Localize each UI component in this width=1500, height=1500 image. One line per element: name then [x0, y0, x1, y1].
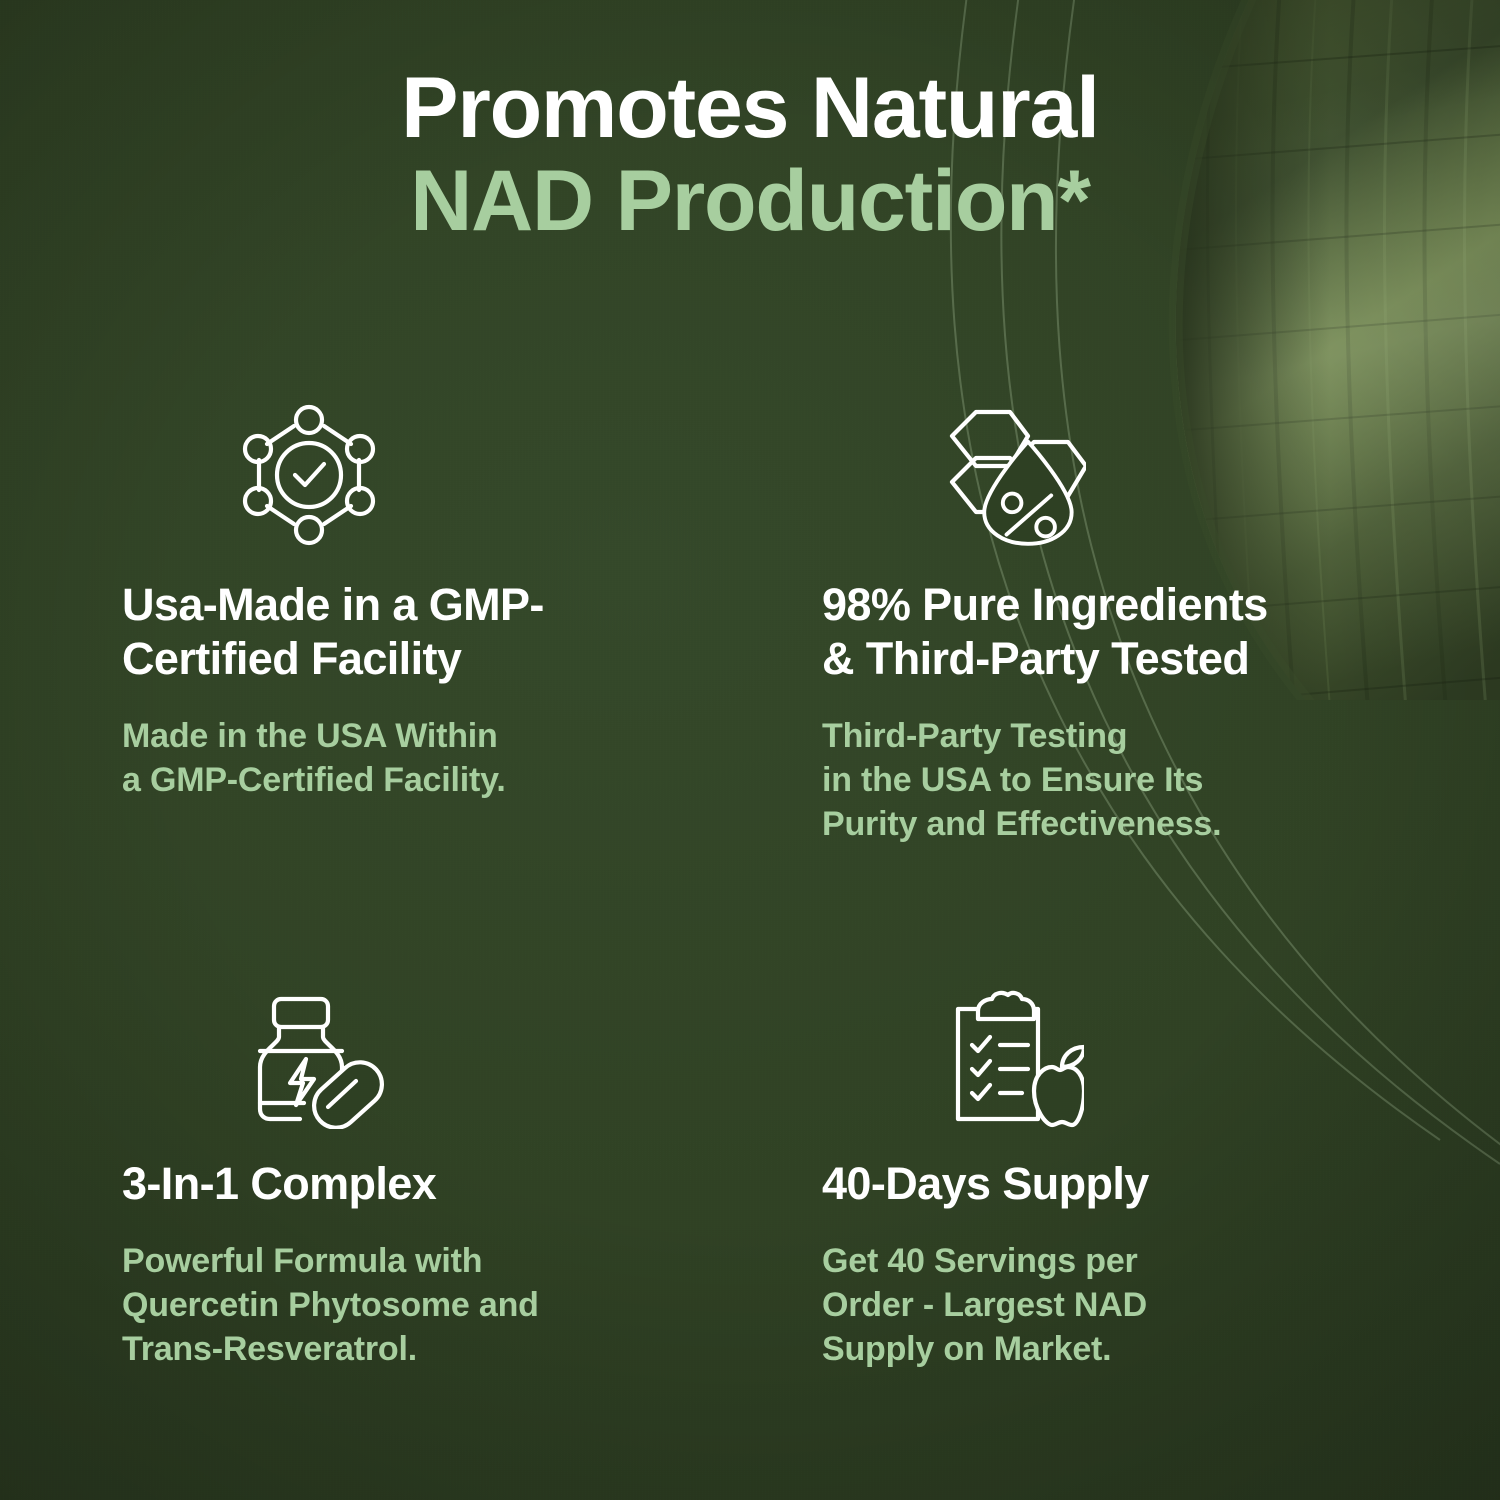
supplement-bottle-capsule-icon	[122, 989, 700, 1129]
clipboard-checklist-apple-icon	[822, 989, 1400, 1129]
feature-card-3in1-complex: 3-In-1 Complex Powerful Formula with Que…	[0, 989, 700, 1372]
feature-description: Made in the USA Within a GMP-Certified F…	[122, 714, 700, 802]
feature-card-40-days-supply: 40-Days Supply Get 40 Servings per Order…	[700, 989, 1400, 1372]
feature-title: Usa-Made in a GMP- Certified Facility	[122, 578, 700, 686]
feature-title: 98% Pure Ingredients & Third-Party Teste…	[822, 578, 1400, 686]
hexagon-network-check-icon	[122, 400, 700, 550]
feature-card-usa-made: Usa-Made in a GMP- Certified Facility Ma…	[0, 400, 700, 847]
page-title: Promotes Natural NAD Production*	[0, 62, 1500, 248]
feature-title: 3-In-1 Complex	[122, 1157, 700, 1211]
headline-line-1: Promotes Natural	[0, 62, 1500, 155]
feature-description: Get 40 Servings per Order - Largest NAD …	[822, 1239, 1400, 1372]
hexagons-droplet-percent-icon	[822, 400, 1400, 550]
feature-title: 40-Days Supply	[822, 1157, 1400, 1211]
feature-row-bottom: 3-In-1 Complex Powerful Formula with Que…	[0, 989, 1500, 1372]
product-infographic: Promotes Natural NAD Production*	[0, 0, 1500, 1500]
feature-description: Third-Party Testing in the USA to Ensure…	[822, 714, 1400, 847]
headline-line-2: NAD Production*	[0, 155, 1500, 248]
feature-card-pure-ingredients: 98% Pure Ingredients & Third-Party Teste…	[700, 400, 1400, 847]
feature-description: Powerful Formula with Quercetin Phytosom…	[122, 1239, 700, 1372]
feature-grid: Usa-Made in a GMP- Certified Facility Ma…	[0, 400, 1500, 1371]
feature-row-top: Usa-Made in a GMP- Certified Facility Ma…	[0, 400, 1500, 847]
